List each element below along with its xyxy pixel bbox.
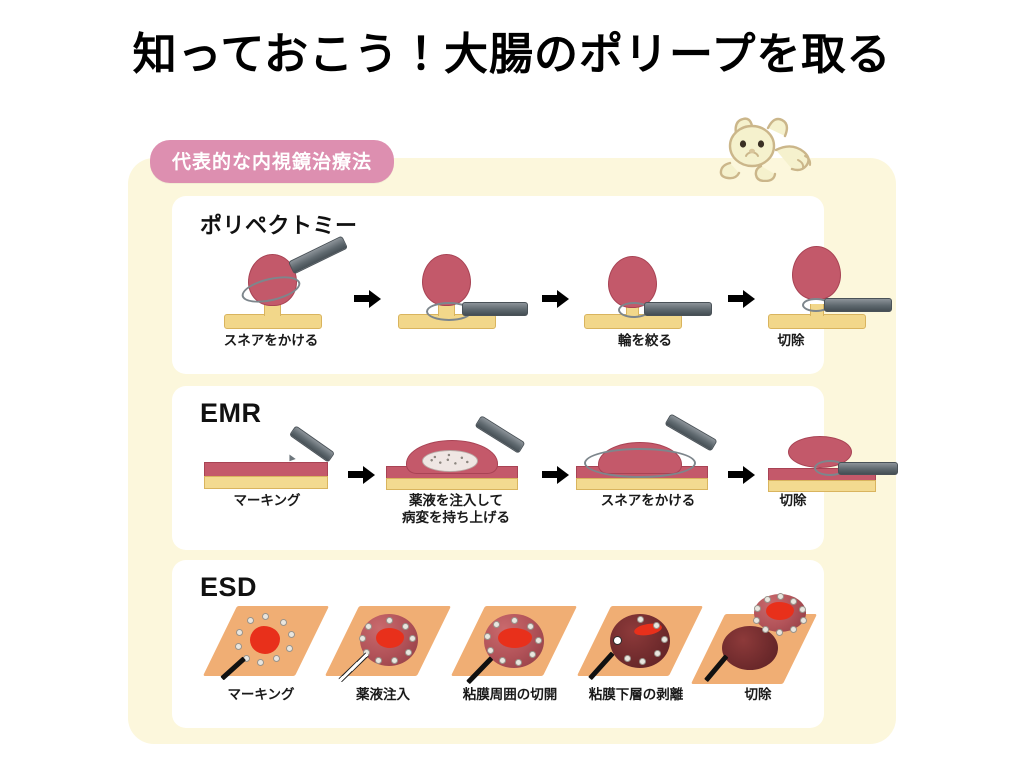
step-caption: スネアをかける: [196, 332, 346, 349]
submucosa-layer: [768, 480, 876, 492]
injected-fluid-pocket: [422, 450, 478, 472]
step-esd-2: 薬液注入: [322, 602, 444, 703]
endoscope-instrument: [838, 462, 898, 475]
esd-illustration: [208, 602, 318, 682]
polyp-head: [792, 246, 841, 300]
marking-dot-ring: [208, 602, 318, 682]
esd-illustration: [700, 602, 810, 682]
step-emr-1: マーキング: [192, 432, 342, 509]
step-list-polypectomy: スネアをかける: [172, 196, 824, 374]
step-esd-5: 切除: [696, 602, 820, 703]
esd-illustration: [330, 602, 440, 682]
submucosa-layer: [204, 476, 328, 489]
step-polypectomy-1: スネアをかける: [196, 240, 346, 349]
step-caption: 切除: [696, 686, 820, 703]
step-caption-line2: 病変を持ち上げる: [376, 509, 536, 526]
step-esd-3: 粘膜周囲の切開: [444, 602, 576, 703]
endoscope-instrument: [462, 302, 528, 316]
step-polypectomy-4: 切除: [672, 240, 822, 349]
step-caption: 切除: [716, 332, 866, 349]
step-caption: マーキング: [192, 492, 342, 509]
step-emr-4: 切除: [672, 426, 822, 509]
puppy-mascot: [706, 108, 824, 182]
polyp-head: [608, 256, 657, 308]
step-list-emr: マーキング 薬液を注入して 病変を持ち上げる: [172, 386, 824, 550]
endoscope-instrument: [288, 236, 348, 275]
marking-dot-ring: [456, 602, 566, 682]
mucosa-base: [224, 314, 322, 329]
section-emr: EMR マーキング 薬液を注入して 病変を持ち上: [172, 386, 824, 550]
marking-needle: [289, 425, 335, 462]
polyp-head: [422, 254, 471, 306]
step-caption: 切除: [718, 492, 868, 509]
mucosa-base: [768, 314, 866, 329]
page-title: 知っておこう！大腸のポリープを取る: [0, 18, 1024, 82]
esd-illustration: [456, 602, 566, 682]
step-polypectomy-2: [384, 240, 534, 332]
step-emr-2: 薬液を注入して 病変を持ち上げる: [376, 426, 536, 527]
step-caption: 粘膜下層の剥離: [570, 686, 702, 703]
step-esd-4: 粘膜下層の剥離: [570, 602, 702, 703]
section-badge: 代表的な内視鏡治療法: [150, 140, 394, 183]
step-esd-1: マーキング: [200, 602, 322, 703]
section-polypectomy: ポリペクトミー スネアをかける: [172, 196, 824, 374]
step-caption: 薬液を注入して: [376, 492, 536, 509]
section-esd: ESD マーキング: [172, 560, 824, 728]
step-caption: マーキング: [200, 686, 322, 703]
step-list-esd: マーキング 薬液注入: [172, 560, 824, 728]
submucosa-layer: [386, 478, 518, 490]
knife-tip: [613, 636, 622, 645]
esd-illustration: [582, 602, 692, 682]
step-caption: 薬液注入: [322, 686, 444, 703]
step-caption: 粘膜周囲の切開: [444, 686, 576, 703]
endoscope-instrument: [824, 298, 892, 312]
